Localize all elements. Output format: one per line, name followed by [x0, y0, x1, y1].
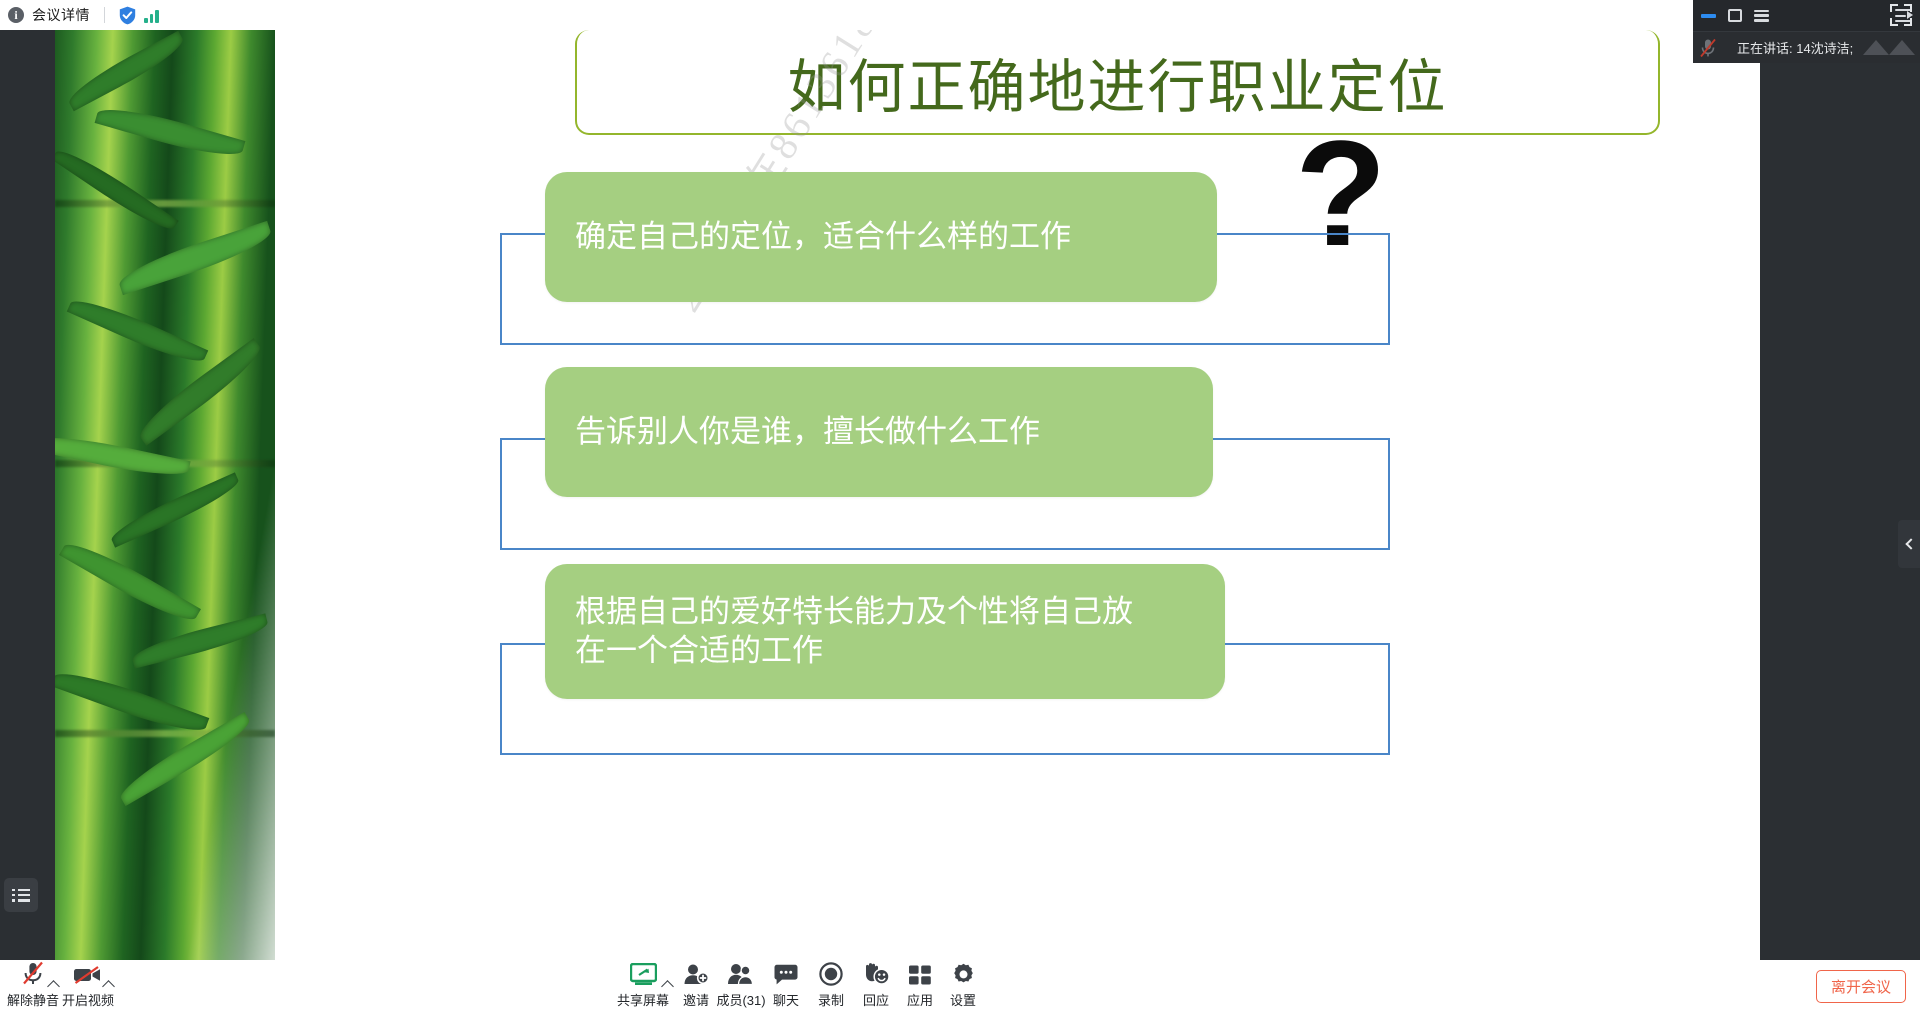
- signal-strength-icon[interactable]: [144, 7, 159, 23]
- floating-self-panel: 正在讲话: 14沈诗洁;: [1693, 0, 1920, 63]
- share-screen-label: 共享屏幕: [617, 990, 669, 1009]
- participants-icon: [727, 962, 755, 986]
- invite-label: 邀请: [683, 990, 709, 1009]
- bullet-text-3: 根据自己的爱好特长能力及个性将自己放 在一个合适的工作: [575, 593, 1133, 671]
- chat-icon: [773, 962, 799, 986]
- fullscreen-icon[interactable]: [1890, 4, 1912, 26]
- mic-muted-icon: [21, 962, 45, 986]
- bullet-text-2: 告诉别人你是谁，擅长做什么工作: [575, 413, 1040, 452]
- meeting-window: i 会议详情: [0, 0, 1920, 1012]
- settings-label: 设置: [950, 990, 976, 1009]
- bamboo-photo: [55, 30, 275, 960]
- leave-meeting-button[interactable]: 离开会议: [1816, 970, 1906, 1003]
- bullet-pill-2: 告诉别人你是谁，擅长做什么工作: [545, 367, 1213, 497]
- shared-slide: 如何正确地进行职业定位 ? 25彭菜在8613618017892253 确定自己…: [55, 30, 1760, 960]
- floating-panel-titlebar: [1693, 0, 1920, 31]
- slide-title-box: 如何正确地进行职业定位: [575, 30, 1660, 135]
- settings-button[interactable]: 设置: [932, 962, 994, 1009]
- participant-list-icon[interactable]: [4, 878, 38, 912]
- apps-label: 应用: [907, 990, 933, 1009]
- camera-toggle-label: 开启视频: [62, 990, 114, 1009]
- minimize-icon[interactable]: [1701, 14, 1716, 18]
- reaction-label: 回应: [863, 990, 889, 1009]
- camera-off-icon: [73, 962, 103, 986]
- active-speaker-bar: 正在讲话: 14沈诗洁;: [1693, 31, 1920, 63]
- apps-grid-icon: [909, 962, 932, 986]
- record-label: 录制: [818, 990, 844, 1009]
- bullet-pill-1: 确定自己的定位，适合什么样的工作: [545, 172, 1217, 302]
- bottom-toolbar: 解除静音 开启视频: [0, 960, 1920, 1012]
- reaction-icon: [863, 962, 890, 986]
- meeting-details-group[interactable]: i 会议详情: [0, 0, 159, 30]
- audio-wave-icon: [1863, 40, 1915, 55]
- mic-toggle-label: 解除静音: [7, 990, 59, 1009]
- restore-window-icon[interactable]: [1728, 9, 1742, 22]
- chat-label: 聊天: [773, 990, 799, 1009]
- shared-content-stage: 如何正确地进行职业定位 ? 25彭菜在8613618017892253 确定自己…: [0, 30, 1920, 960]
- invite-user-icon: [683, 962, 709, 986]
- chevron-left-icon[interactable]: [1898, 520, 1920, 568]
- mic-muted-icon: [1699, 38, 1717, 58]
- bullet-text-1: 确定自己的定位，适合什么样的工作: [575, 218, 1071, 257]
- share-screen-icon: [630, 962, 657, 986]
- hamburger-menu-icon[interactable]: [1754, 10, 1769, 22]
- divider: [104, 7, 105, 23]
- meeting-details-label: 会议详情: [32, 5, 90, 25]
- speaking-label: 正在讲话: 14沈诗洁;: [1737, 38, 1853, 57]
- top-bar: i 会议详情: [0, 0, 1920, 30]
- info-icon[interactable]: i: [8, 7, 24, 23]
- record-icon: [819, 962, 843, 986]
- bullet-pill-3: 根据自己的爱好特长能力及个性将自己放 在一个合适的工作: [545, 564, 1225, 699]
- shield-check-icon[interactable]: [119, 6, 136, 25]
- settings-gear-icon: [952, 962, 975, 986]
